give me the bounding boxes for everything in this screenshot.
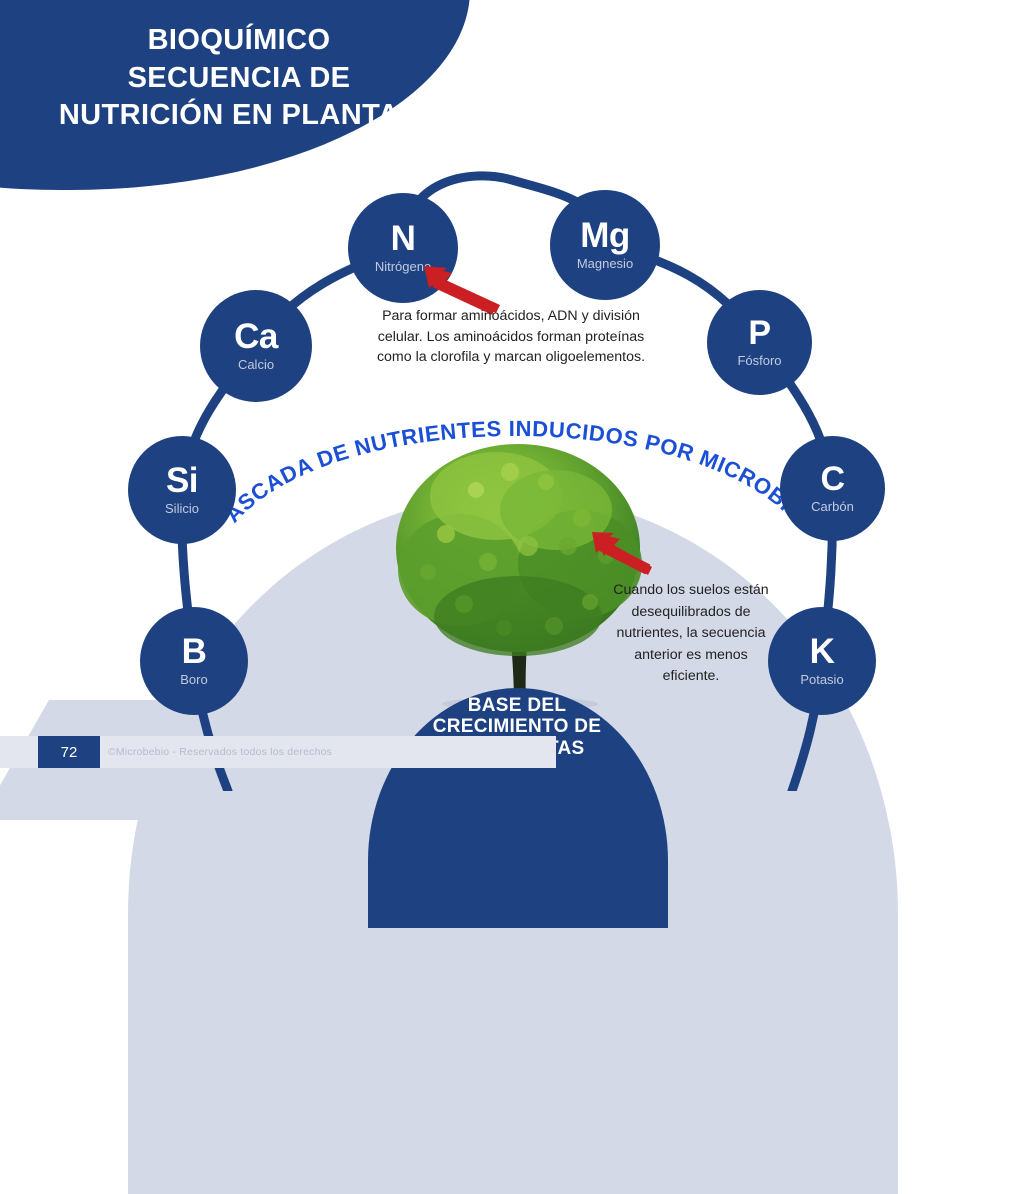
tree-annotation: Cuando los suelos están desequilibrados … [608,580,774,688]
page-number-chip: 72 [38,736,100,768]
title-line-1: BIOQUÍMICO [24,22,454,60]
page-title: BIOQUÍMICO SECUENCIA DE NUTRICIÓN EN PLA… [24,22,454,135]
copyright-notice: ©Microbebio - Reservados todos los derec… [108,736,332,768]
title-line-2: SECUENCIA DE [24,60,454,98]
infographic-canvas: BASE DEL CRECIMIENTO DE LAS PLANTAS CASC… [0,0,1024,791]
nitrogen-annotation: Para formar aminoácidos, ADN y división … [363,306,659,368]
title-line-3: NUTRICIÓN EN PLANTAS [24,97,454,135]
arrow-to-tree-icon [592,532,652,575]
